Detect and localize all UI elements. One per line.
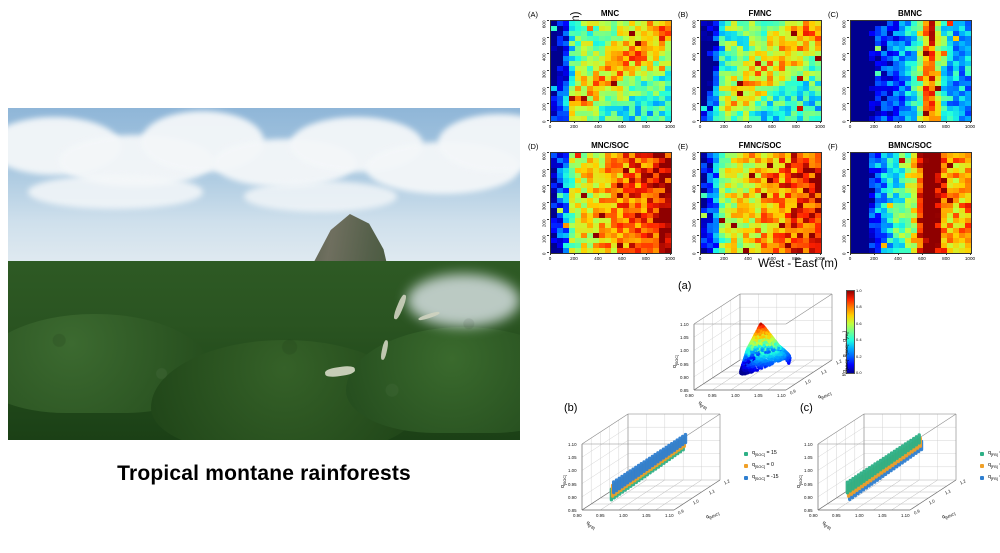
heatmap-title: FMNC/SOC [700,141,820,150]
heatmap-y-tick: 600 [542,153,547,173]
heatmap-x-tickmark [724,121,725,123]
heatmap-y-tickmark [697,252,699,253]
heatmap-x-tick: 600 [614,256,630,261]
colorbar-tick: 1.0 [856,288,862,293]
legend-label: q[FB] = -15 [988,474,1000,481]
heatmap-x-tickmark [970,121,971,123]
heatmap-tag-C: (C) [828,10,838,19]
heatmap-title: MNC/SOC [550,141,670,150]
heatmap-x-tick: 200 [566,124,582,129]
heatmap-x-tick: 400 [890,256,906,261]
surface-z-tick: 0.95 [568,482,577,487]
heatmap-y-tick: 300 [692,71,697,91]
heatmap-y-tickmark [547,103,549,104]
heatmap-y-tickmark [697,70,699,71]
surface-z-tick: 0.90 [804,495,813,500]
heatmap-y-tickmark [547,219,549,220]
heatmap-x-tickmark [646,121,647,123]
legend-item[interactable]: q[SOC] = 15 [744,450,778,457]
heatmap-y-tickmark [847,252,849,253]
heatmap-y-tickmark [847,185,849,186]
heatmap-cells [550,152,672,254]
heatmap-x-tick: 1000 [662,256,678,261]
heatmap-x-tickmark [700,253,701,255]
colorbar-label: f(q[MNC], q[SOC], q[FB]) [842,331,849,376]
legend-swatch [744,476,748,480]
heatmap-x-tickmark [574,121,575,123]
surface-y-tick: 0.95 [832,513,841,518]
heatmap-y-tickmark [547,202,549,203]
heatmap-panel-fmnc-soc: (E)FMNC/SOC01002003004005006000200400600… [678,142,822,268]
surface-legend: q[FB] = 15q[FB] = 0q[FB] = -15 [980,450,1000,486]
heatmap-y-tick: 600 [542,21,547,41]
surface-y-tick: 1.00 [619,513,628,518]
heatmap-y-tick: 600 [842,153,847,173]
legend-swatch [744,452,748,456]
heatmap-x-tickmark [700,121,701,123]
heatmap-panel-bmnc: (C)BMNC010020030040050060002004006008001… [828,10,972,136]
heatmap-y-tickmark [547,120,549,121]
heatmap-x-tick: 200 [716,124,732,129]
heatmap-cells [550,20,672,122]
surface-z-axis-label: q[SOC] [672,355,679,368]
heatmap-tag-F: (F) [828,142,838,151]
heatmap-tag-B: (B) [678,10,688,19]
heatmap-y-tickmark [697,169,699,170]
heatmap-y-tickmark [547,185,549,186]
legend-label: q[FB] = 0 [988,462,1000,469]
legend-label: q[SOC] = -15 [752,474,778,481]
heatmap-x-tick: 0 [842,256,858,261]
colorbar-tick: 0.6 [856,321,862,326]
heatmap-grid: South - North (m) West - East (m) (A)MNC… [528,2,1000,274]
legend-swatch [980,452,984,456]
heatmap-x-tickmark [748,253,749,255]
colorbar-tick: 0.0 [856,370,862,375]
heatmap-x-tick: 400 [590,256,606,261]
heatmap-cells [850,152,972,254]
heatmap-x-tickmark [622,121,623,123]
heatmap-y-tickmark [547,20,549,21]
surface-y-tick: 1.05 [878,513,887,518]
legend-label: q[SOC] = 15 [752,450,777,457]
heatmap-x-tick: 800 [788,124,804,129]
surface-y-tick: 1.10 [665,513,674,518]
photo-caption: Tropical montane rainforests [8,462,520,486]
legend-label: q[SOC] = 0 [752,462,774,469]
heatmap-cells [700,152,822,254]
heatmap-x-tickmark [574,253,575,255]
heatmap-y-tickmark [847,53,849,54]
heatmap-y-tickmark [697,103,699,104]
surface-z-tick: 0.90 [680,375,689,380]
heatmap-y-tick: 300 [542,71,547,91]
heatmap-x-tickmark [796,121,797,123]
heatmap-x-tick: 800 [938,124,954,129]
heatmap-x-tick: 200 [866,256,882,261]
heatmap-x-tick: 1000 [962,256,978,261]
heatmap-x-tickmark [946,121,947,123]
heatmap-title: BMNC [850,9,970,18]
surface-z-tick: 1.05 [804,455,813,460]
heatmap-y-tickmark [697,20,699,21]
heatmap-y-tickmark [847,37,849,38]
surface-z-tick: 1.10 [804,442,813,447]
heatmap-x-tickmark [820,121,821,123]
heatmap-x-tick: 800 [638,124,654,129]
surface-y-tick: 0.90 [573,513,582,518]
surface-y-tick: 0.90 [809,513,818,518]
heatmap-y-tickmark [847,169,849,170]
heatmap-cells [700,20,822,122]
heatmap-y-tickmark [547,87,549,88]
surface-z-tick: 1.10 [568,442,577,447]
heatmap-y-tickmark [847,103,849,104]
heatmap-x-tickmark [550,253,551,255]
heatmap-x-tick: 200 [566,256,582,261]
heatmap-x-tickmark [820,253,821,255]
heatmap-x-tick: 400 [740,256,756,261]
heatmap-x-tickmark [598,121,599,123]
heatmap-y-tickmark [847,152,849,153]
heatmap-y-tickmark [847,235,849,236]
heatmap-x-tickmark [622,253,623,255]
heatmap-y-tickmark [697,37,699,38]
heatmap-y-tickmark [847,120,849,121]
heatmap-panel-mnc-soc: (D)MNC/SOC010020030040050060002004006008… [528,142,672,268]
heatmap-x-tick: 0 [692,124,708,129]
heatmap-panel-fmnc: (B)FMNC010020030040050060002004006008001… [678,10,822,136]
heatmap-y-tickmark [547,169,549,170]
heatmap-x-tick: 400 [590,124,606,129]
surface-plot-c: (c) q[SOC]0.850.900.951.001.051.100.91.0… [784,398,1000,550]
heatmap-x-tick: 0 [842,124,858,129]
heatmap-x-tick: 1000 [812,124,828,129]
heatmap-x-tickmark [598,253,599,255]
legend-item[interactable]: q[SOC] = -15 [744,474,778,481]
heatmap-x-tickmark [922,253,923,255]
surface-z-tick: 1.05 [680,335,689,340]
heatmap-y-tickmark [697,120,699,121]
surface-plot-b: (b) q[SOC]0.850.900.951.001.051.100.91.0… [548,398,788,550]
surface-z-tick: 1.05 [568,455,577,460]
legend-label: q[FB] = 15 [988,450,1000,457]
heatmap-y-tickmark [547,53,549,54]
heatmap-x-tick: 200 [866,124,882,129]
heatmap-title: BMNC/SOC [850,141,970,150]
heatmap-y-tickmark [697,202,699,203]
heatmap-tag-D: (D) [528,142,538,151]
heatmap-x-tick: 400 [740,124,756,129]
heatmap-x-tick: 800 [638,256,654,261]
heatmap-y-tickmark [847,20,849,21]
heatmap-y-tickmark [547,152,549,153]
heatmap-x-tick: 1000 [962,124,978,129]
heatmap-x-tickmark [748,121,749,123]
heatmap-x-tickmark [796,253,797,255]
heatmap-x-tickmark [772,253,773,255]
heatmap-y-tickmark [697,235,699,236]
rainforest-photo [8,108,520,440]
legend-item[interactable]: q[SOC] = 0 [744,462,778,469]
heatmap-x-tick: 600 [614,124,630,129]
heatmap-y-tickmark [547,252,549,253]
legend-swatch [744,464,748,468]
surface-legend: q[SOC] = 15q[SOC] = 0q[SOC] = -15 [744,450,778,486]
heatmap-panel-bmnc-soc: (F)BMNC/SOC01002003004005006000200400600… [828,142,972,268]
heatmap-y-tickmark [847,87,849,88]
surface-z-tick: 0.90 [568,495,577,500]
heatmap-y-tick: 600 [692,153,697,173]
colorbar-tick: 0.2 [856,354,862,359]
surface-z-tick: 1.00 [804,468,813,473]
heatmap-x-tickmark [970,253,971,255]
heatmap-x-tick: 800 [788,256,804,261]
heatmap-x-tick: 0 [542,124,558,129]
heatmap-x-tickmark [898,121,899,123]
surface-y-tick: 1.00 [855,513,864,518]
heatmap-y-tick: 300 [542,203,547,223]
heatmap-x-tick: 400 [890,124,906,129]
heatmap-y-tick: 300 [842,203,847,223]
heatmap-x-tickmark [874,121,875,123]
heatmap-y-tickmark [547,235,549,236]
heatmap-x-tickmark [850,253,851,255]
surface-z-tick: 0.95 [680,362,689,367]
heatmap-y-tickmark [697,53,699,54]
heatmap-y-tickmark [847,70,849,71]
rainforest-photo-panel [8,108,520,440]
heatmap-y-tickmark [697,185,699,186]
legend-item[interactable]: q[FB] = 0 [980,462,1000,469]
heatmap-y-tickmark [547,37,549,38]
heatmap-y-tickmark [697,87,699,88]
surface-y-tick: 0.95 [596,513,605,518]
heatmap-x-tickmark [670,253,671,255]
heatmap-x-tick: 200 [716,256,732,261]
heatmap-title: MNC [550,9,670,18]
canopy-texture [8,108,520,440]
legend-swatch [980,476,984,480]
heatmap-x-tick: 600 [914,124,930,129]
heatmap-x-tickmark [646,253,647,255]
heatmap-y-tick: 300 [842,71,847,91]
heatmap-x-tickmark [772,121,773,123]
heatmap-y-tickmark [847,202,849,203]
surface-z-axis-label: q[SOC] [796,475,803,488]
heatmap-y-tickmark [697,152,699,153]
heatmap-x-tickmark [874,253,875,255]
heatmap-x-tickmark [670,121,671,123]
heatmap-x-tick: 1000 [812,256,828,261]
surface-z-tick: 1.00 [680,348,689,353]
heatmap-x-tick: 0 [692,256,708,261]
heatmap-y-tick: 600 [692,21,697,41]
legend-item[interactable]: q[FB] = -15 [980,474,1000,481]
heatmap-x-tick: 0 [542,256,558,261]
legend-item[interactable]: q[FB] = 15 [980,450,1000,457]
colorbar-tick: 0.8 [856,304,862,309]
heatmap-tag-E: (E) [678,142,688,151]
heatmap-x-tick: 600 [914,256,930,261]
heatmap-x-tickmark [898,253,899,255]
heatmap-y-tickmark [847,219,849,220]
heatmap-x-tickmark [850,121,851,123]
heatmap-y-tick: 600 [842,21,847,41]
surface-z-tick: 1.10 [680,322,689,327]
colorbar-tick: 0.4 [856,337,862,342]
legend-swatch [980,464,984,468]
heatmap-cells [850,20,972,122]
surface-z-tick: 0.95 [804,482,813,487]
heatmap-y-tickmark [547,70,549,71]
surface-axes-box [784,398,1000,546]
surface-z-axis-label: q[SOC] [560,475,567,488]
heatmap-x-tick: 600 [764,124,780,129]
heatmap-x-tickmark [922,121,923,123]
heatmap-y-tickmark [697,219,699,220]
surface-y-tick: 1.05 [642,513,651,518]
heatmap-panel-mnc: (A)MNC0100200300400500600020040060080010… [528,10,672,136]
heatmap-y-tick: 300 [692,203,697,223]
heatmap-x-tick: 1000 [662,124,678,129]
heatmap-x-tickmark [946,253,947,255]
heatmap-tag-A: (A) [528,10,538,19]
surface-y-tick: 1.10 [901,513,910,518]
surface-plot-a: (a) q[SOC]0.850.900.951.001.051.100.91.0… [660,278,900,408]
heatmap-x-tickmark [550,121,551,123]
heatmap-x-tick: 600 [764,256,780,261]
heatmap-x-tickmark [724,253,725,255]
surface-z-tick: 1.00 [568,468,577,473]
heatmap-title: FMNC [700,9,820,18]
heatmap-x-tick: 800 [938,256,954,261]
